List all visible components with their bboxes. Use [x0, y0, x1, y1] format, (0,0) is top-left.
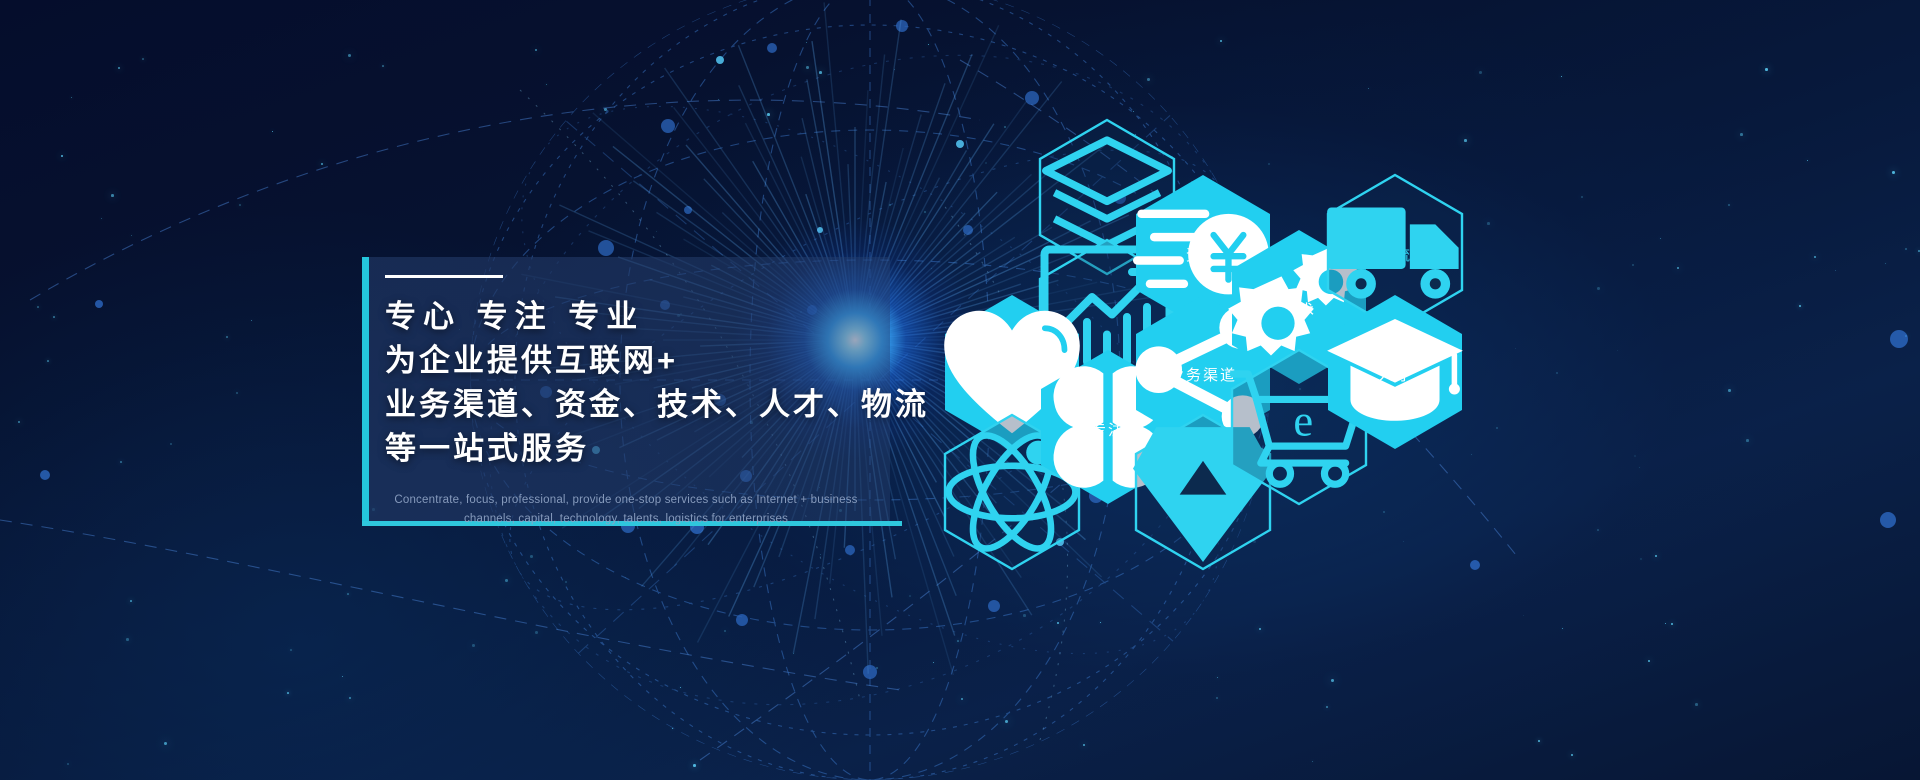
hexagon-grid: 专心专注资金业务渠道专业技术e物流人才	[0, 0, 1920, 780]
svg-text:e: e	[1293, 395, 1313, 445]
hex-cell-rencai[interactable]: 人才	[1325, 293, 1465, 451]
banner-hero: 专心 专注 专业 为企业提供互联网+ 业务渠道、资金、技术、人才、物流 等一站式…	[0, 0, 1920, 780]
